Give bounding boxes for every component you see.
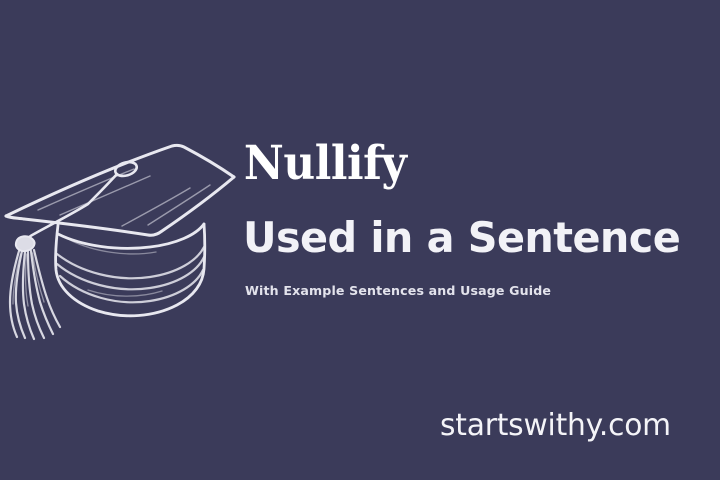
word-title: Nullify [243,140,680,187]
cap-base-bands [57,247,204,302]
title-block: Nullify Used in a Sentence With Example … [243,140,713,298]
graduation-cap-icon [0,130,245,345]
tassel-strands [10,250,60,339]
subheadline: With Example Sentences and Usage Guide [243,285,713,298]
tassel-knot [16,236,35,251]
site-domain: startswithy.com [440,411,671,441]
mortarboard-board [6,145,234,235]
headline: Used in a Sentence [243,217,706,259]
graphic-canvas: Nullify Used in a Sentence With Example … [0,0,720,480]
tassel-cord [26,174,117,241]
